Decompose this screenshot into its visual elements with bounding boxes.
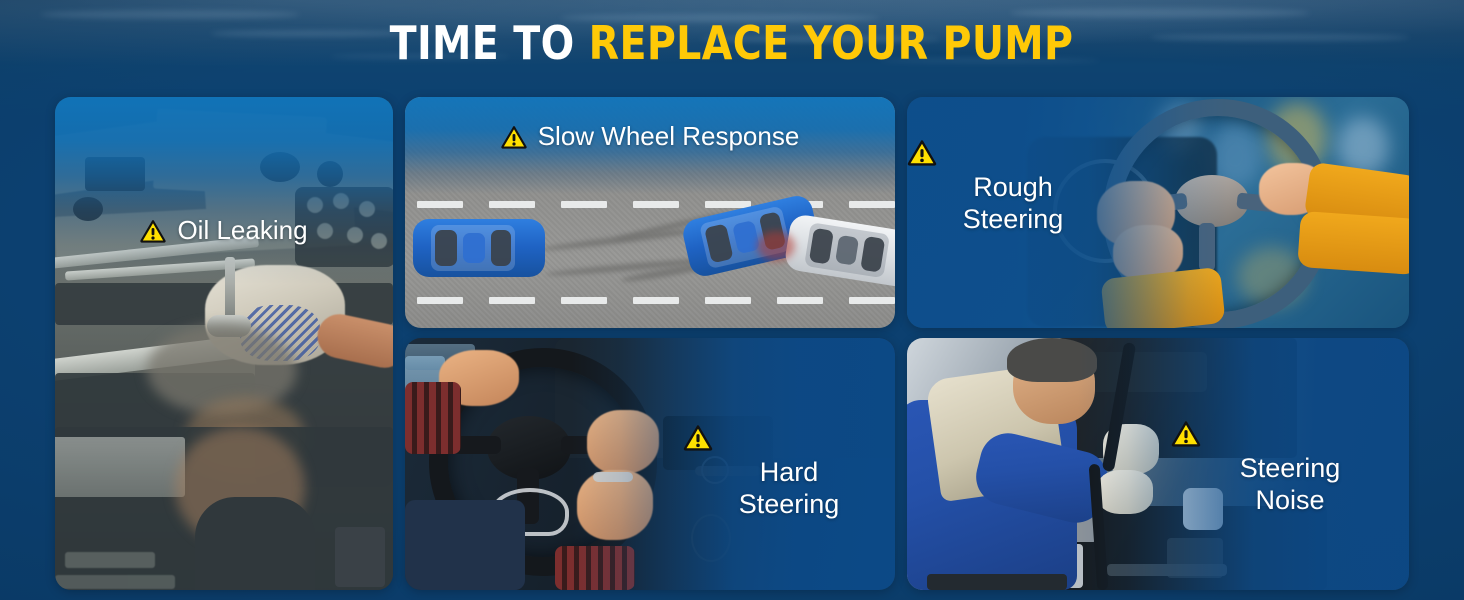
label-text: Slow Wheel Response: [538, 121, 800, 152]
card-slow-wheel-response[interactable]: Slow Wheel Response: [405, 97, 895, 328]
label-line1: Rough: [907, 172, 1119, 204]
warning-triangle-icon: [683, 424, 895, 451]
card-steering-noise[interactable]: Steering Noise: [907, 338, 1409, 590]
label-text: Oil Leaking: [177, 215, 307, 246]
page-title: TIME TO REPLACE YOUR PUMP: [0, 20, 1464, 66]
label-line2: Noise: [1171, 485, 1409, 517]
label-slow-wheel-response: Slow Wheel Response: [405, 121, 895, 152]
title-white-part: TIME TO: [390, 16, 575, 70]
warning-triangle-icon: [140, 219, 166, 243]
label-oil-leaking: Oil Leaking: [55, 215, 393, 246]
infographic-banner: TIME TO REPLACE YOUR PUMP: [0, 0, 1464, 600]
label-line1: Hard: [683, 457, 895, 489]
card-rough-steering[interactable]: Rough Steering: [907, 97, 1409, 328]
card-hard-steering[interactable]: Hard Steering: [405, 338, 895, 590]
card-oil-leaking[interactable]: Oil Leaking: [55, 97, 393, 590]
label-rough-steering: Rough Steering: [907, 139, 1119, 236]
label-line2: Steering: [907, 204, 1119, 236]
warning-triangle-icon: [907, 139, 1119, 166]
warning-triangle-icon: [501, 125, 527, 149]
label-line1: Steering: [1171, 453, 1409, 485]
warning-triangle-icon: [1171, 420, 1409, 447]
label-line2: Steering: [683, 489, 895, 521]
label-steering-noise: Steering Noise: [1171, 420, 1409, 517]
label-hard-steering: Hard Steering: [683, 424, 895, 521]
overlay-oil: [55, 97, 393, 590]
title-gold-part: REPLACE YOUR PUMP: [589, 16, 1074, 70]
